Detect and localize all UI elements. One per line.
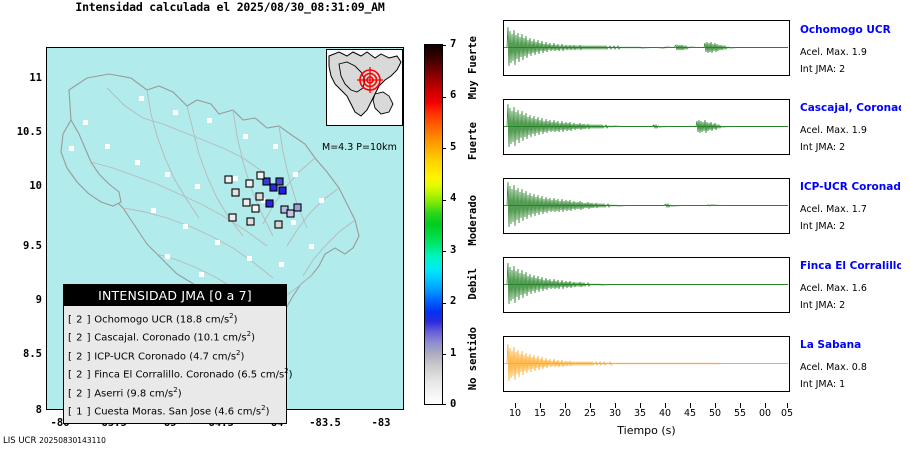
legend-row: [ 2 ] Aserri (9.8 cm/s2) [66,383,286,402]
waveform-xtick: 55 [734,408,746,419]
colorbar-tick: 1 [450,347,456,359]
colorbar-category: Muy Fuerte [467,36,479,99]
right-edge-clip [901,0,910,460]
waveform-xtick: 00 [759,408,771,419]
waveform-xtick: 30 [609,408,621,419]
colorbar-tick: 6 [450,89,456,101]
legend-station: Ochomogo UCR [94,314,173,325]
waveform-xtick: 25 [584,408,596,419]
legend-title: INTENSIDAD JMA [0 a 7] [64,285,286,306]
intensity-legend[interactable]: INTENSIDAD JMA [0 a 7] [ 2 ] Ochomogo UC… [63,284,287,424]
colorbar-tick: 3 [450,244,456,256]
colorbar-category: Moderado [467,195,479,246]
event-magnitude-annotation: M=4.3 P=10km [322,142,397,153]
legend-accel: (10.1 cm/s [193,332,246,343]
legend-close: ) [234,314,238,325]
legend-station: Finca El Corralillo. Coronado [94,369,234,380]
waveform-xtick: 05 [781,408,793,419]
waveform-station-name: Cascajal, Coronado [800,102,910,114]
waveform-station-name: Ochomogo UCR [800,24,891,36]
colorbar-tick: 5 [450,141,456,153]
legend-accel: (4.6 cm/s [214,406,261,417]
map-ytick: 8 [0,404,42,416]
waveform-panel[interactable] [503,99,790,155]
map-xtick: -83.5 [302,417,348,429]
colorbar-category: Fuerte [467,122,479,160]
legend-row: [ 2 ] Finca El Corralillo. Coronado (6.5… [66,364,286,383]
legend-intensity: [ 2 ] [68,332,91,343]
waveform-xtick: 20 [559,408,571,419]
waveform-xtick: 10 [509,408,521,419]
legend-close: ) [178,388,182,399]
map-ytick: 9.5 [0,240,42,252]
colorbar-tick: 7 [450,38,456,50]
legend-list: [ 2 ] Ochomogo UCR (18.8 cm/s2) [ 2 ] Ca… [64,306,286,423]
waveform-xtick: 50 [709,408,721,419]
colorbar-tick: 4 [450,192,456,204]
legend-intensity: [ 2 ] [68,388,91,399]
map-ytick: 9 [0,294,42,306]
waveform-trace [504,179,788,232]
waveform-acel-max: Acel. Max. 1.6 [800,283,867,294]
legend-accel: (18.8 cm/s [176,314,229,325]
legend-row: [ 2 ] ICP-UCR Coronado (4.7 cm/s2) [66,346,286,365]
waveform-trace [504,21,788,74]
legend-station: Cascajal. Coronado [94,332,190,343]
waveform-int-jma: Int JMA: 1 [800,379,845,390]
inset-graphic [327,50,402,125]
waveform-int-jma: Int JMA: 2 [800,64,845,75]
legend-station: Aserri [94,388,123,399]
legend-close: ) [289,369,293,380]
waveform-int-jma: Int JMA: 2 [800,221,845,232]
waveform-station-name: ICP-UCR Coronado [800,181,908,193]
waveform-xtick: 40 [659,408,671,419]
waveform-trace [504,337,788,390]
waveform-panel[interactable] [503,336,790,392]
waveform-xtick: 45 [684,408,696,419]
waveform-panel[interactable] [503,178,790,234]
waveform-xaxis-label: Tiempo (s) [503,424,790,437]
legend-accel: (6.5 cm/s [237,369,284,380]
waveform-acel-max: Acel. Max. 1.9 [800,125,867,136]
legend-row: [ 2 ] Cascajal. Coronado (10.1 cm/s2) [66,327,286,346]
legend-intensity: [ 1 ] [68,406,91,417]
legend-station: ICP-UCR Coronado [94,351,186,362]
waveform-trace [504,100,788,153]
waveform-acel-max: Acel. Max. 0.8 [800,362,867,373]
inset-locator-map[interactable] [326,49,403,126]
waveform-station-name: La Sabana [800,339,861,351]
colorbar-tick: 0 [450,398,456,410]
legend-accel: (9.8 cm/s [126,388,173,399]
legend-intensity: [ 2 ] [68,369,91,380]
map-title: Intensidad calculada el 2025/08/30_08:31… [0,0,460,14]
legend-row: [ 2 ] Ochomogo UCR (18.8 cm/s2) [66,309,286,328]
footer-code: 20250830143110 [39,436,106,445]
legend-intensity: [ 2 ] [68,314,91,325]
waveform-panel[interactable] [503,257,790,313]
map-ytick: 11 [0,72,42,84]
legend-station: Cuesta Moras. San Jose [94,406,211,417]
map-ytick: 8.5 [0,348,42,360]
map-xtick: -83 [358,417,404,429]
colorbar-category: No sentido [467,327,479,390]
legend-accel: (4.7 cm/s [189,351,236,362]
colorbar-category: Debil [467,268,479,300]
waveform-xtick: 35 [634,408,646,419]
waveform-trace [504,258,788,311]
legend-row: [ 1 ] Cuesta Moras. San Jose (4.6 cm/s2) [66,401,286,420]
waveform-acel-max: Acel. Max. 1.9 [800,47,867,58]
map-ytick: 10 [0,180,42,192]
waveform-int-jma: Int JMA: 2 [800,142,845,153]
waveform-panel[interactable] [503,20,790,76]
footer-prefix: LIS UCR [3,436,36,446]
footer-credit: LIS UCR 20250830143110 [3,436,106,446]
intensity-colorbar[interactable] [424,44,443,405]
map-ytick: 10.5 [0,126,42,138]
legend-close: ) [266,406,270,417]
waveform-xaxis: 10 15 20 25 30 35 40 45 50 55 00 05 [503,403,790,415]
waveform-station-name: Finca El Corralillo, Coro [800,260,910,272]
legend-close: ) [241,351,245,362]
colorbar-tick: 2 [450,295,456,307]
waveform-xtick: 15 [534,408,546,419]
legend-intensity: [ 2 ] [68,351,91,362]
waveform-acel-max: Acel. Max. 1.7 [800,204,867,215]
waveform-int-jma: Int JMA: 2 [800,300,845,311]
legend-close: ) [251,332,255,343]
